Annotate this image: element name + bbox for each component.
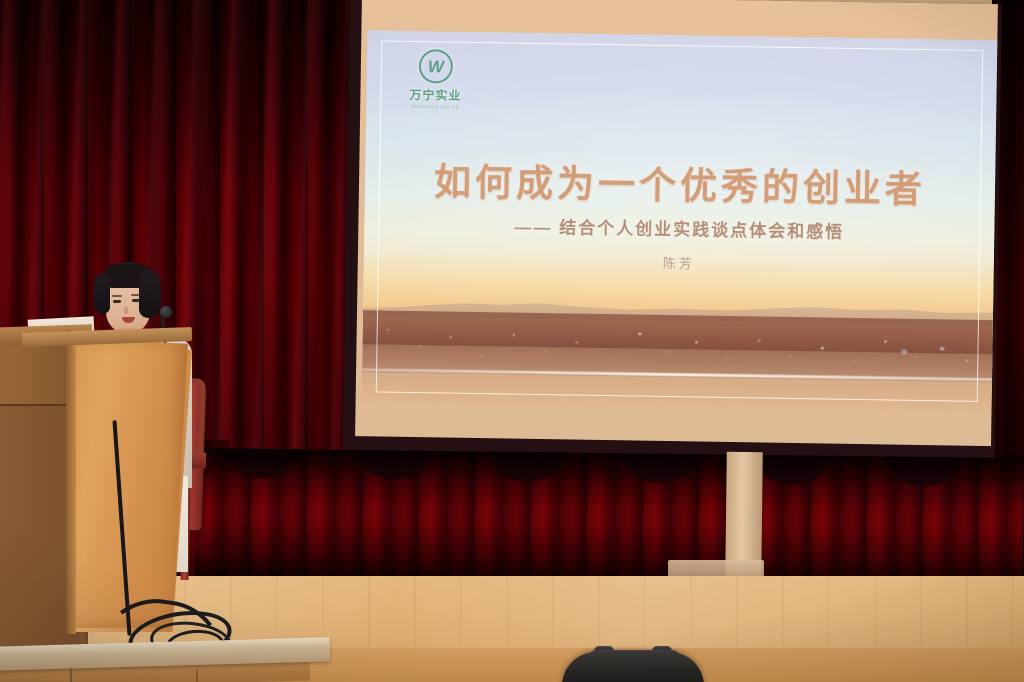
- stage-floor-monitor-speaker: [562, 652, 704, 682]
- stage-valance: [194, 448, 1024, 592]
- valance-scallop-shadow: [195, 448, 1024, 506]
- hair-side-left: [94, 274, 110, 314]
- stage-edge-seam-2: [196, 670, 198, 682]
- company-logo: W 万宁实业 WAN NING SHI YE: [400, 49, 471, 112]
- eye-right: [132, 299, 140, 302]
- presentation-slide: W 万宁实业 WAN NING SHI YE 如何成为一个优秀的创业者 —— 结…: [362, 30, 998, 412]
- logo-company-name-cn: 万宁实业: [400, 86, 470, 104]
- logo-w-icon: W: [419, 49, 454, 84]
- stage-edge-seam-1: [70, 668, 72, 682]
- eye-left: [113, 300, 121, 303]
- presentation-scene-photo: W 万宁实业 WAN NING SHI YE 如何成为一个优秀的创业者 —— 结…: [0, 0, 1024, 682]
- hair-side-right: [139, 270, 161, 318]
- podium-front-panel: [72, 338, 188, 628]
- city-skyline-artwork: [362, 252, 994, 412]
- eyebrow-left: [112, 295, 122, 297]
- nose: [124, 307, 128, 314]
- slide-title: 如何成为一个优秀的创业者: [365, 150, 996, 214]
- podium-edge: [66, 330, 76, 634]
- slide-subtitle: —— 结合个人创业实践谈点体会和感悟: [364, 210, 994, 245]
- eyebrow-right: [131, 294, 141, 296]
- projection-screen-surface: W 万宁实业 WAN NING SHI YE 如何成为一个优秀的创业者 —— 结…: [355, 0, 998, 446]
- projection-screen-frame: W 万宁实业 WAN NING SHI YE 如何成为一个优秀的创业者 —— 结…: [343, 0, 1002, 466]
- logo-company-name-en: WAN NING SHI YE: [400, 104, 470, 110]
